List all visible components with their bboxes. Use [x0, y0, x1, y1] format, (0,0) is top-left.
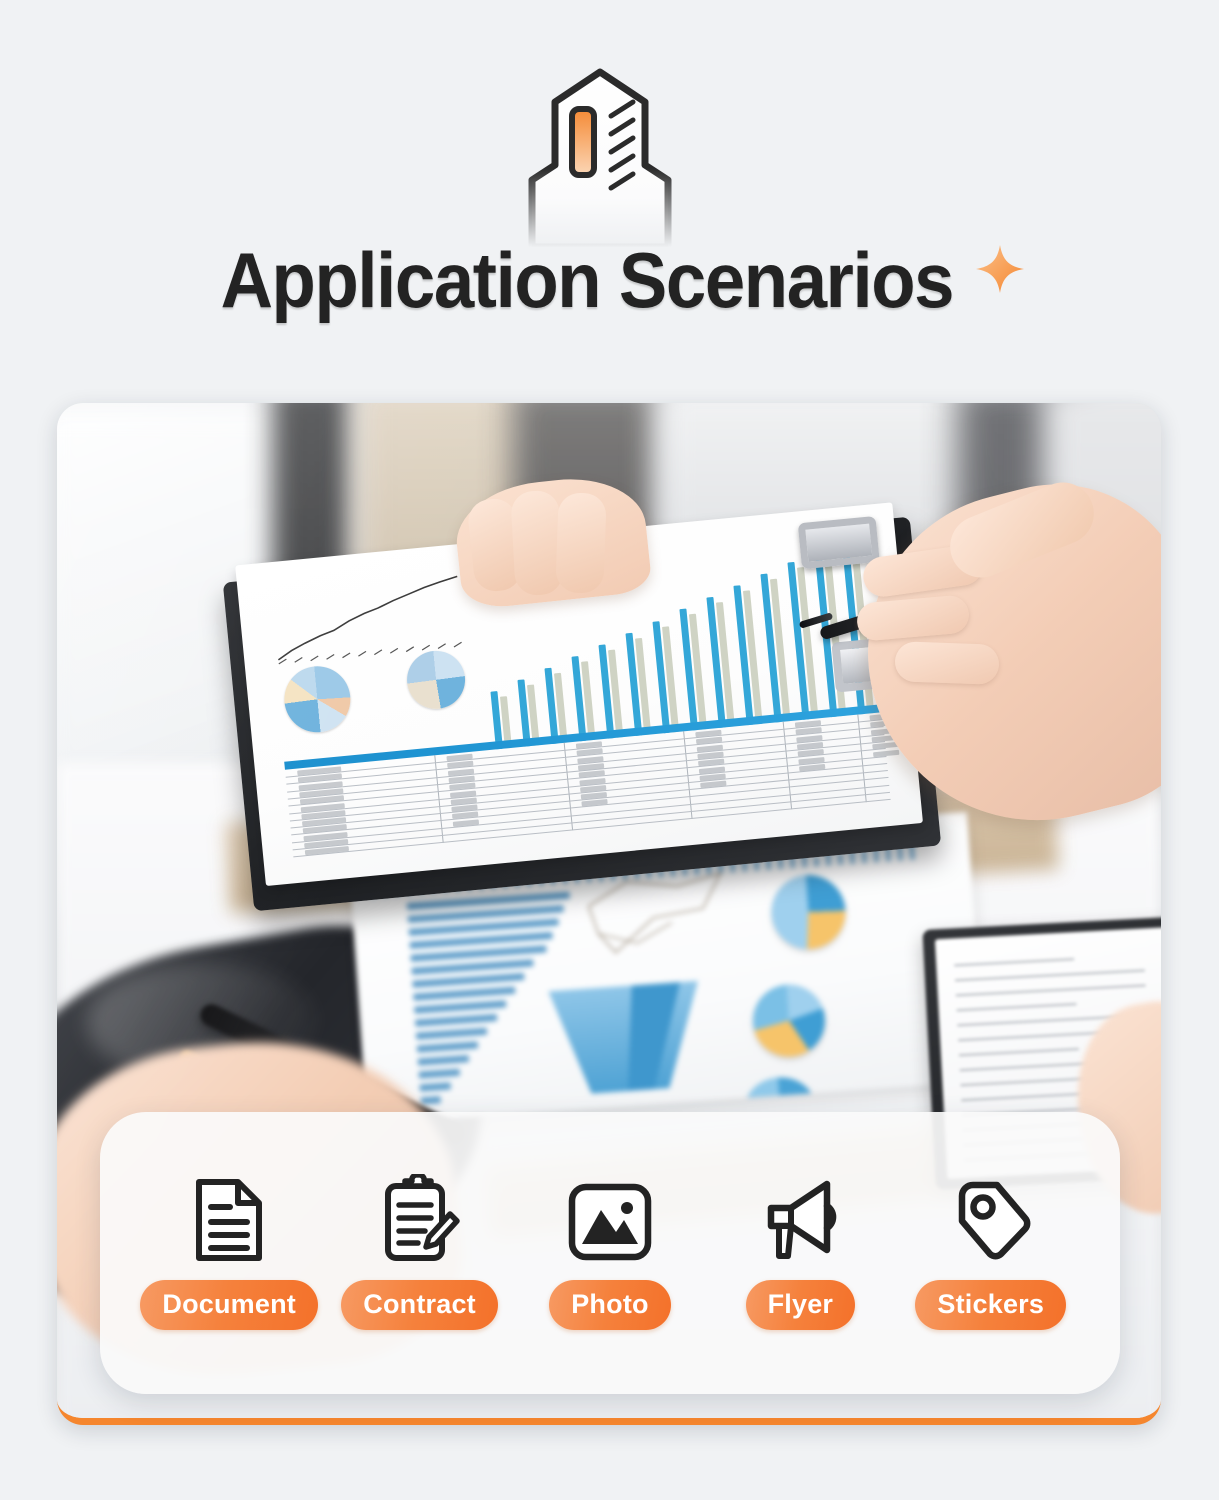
category-item-stickers[interactable]: Stickers — [900, 1176, 1082, 1330]
bar — [420, 1096, 441, 1104]
ruled-line — [957, 1003, 1077, 1011]
table-cell — [699, 773, 725, 780]
table-cell — [700, 781, 726, 788]
bar — [418, 1055, 469, 1066]
bar — [417, 1041, 479, 1052]
table-cell — [798, 749, 824, 756]
bar — [411, 959, 534, 975]
bar — [414, 1000, 506, 1013]
table-cell — [577, 749, 603, 756]
clipboard-pie-2 — [404, 648, 467, 711]
title-row: Application Scenarios — [0, 237, 1219, 323]
table-cell — [581, 792, 607, 799]
table-cell — [873, 749, 899, 756]
category-item-photo[interactable]: Photo — [519, 1176, 701, 1330]
category-item-flyer[interactable]: Flyer — [709, 1176, 891, 1330]
table-cell — [450, 790, 476, 797]
price-tag-icon — [949, 1176, 1033, 1262]
table-cell — [796, 735, 822, 742]
category-label-flyer: Flyer — [746, 1280, 856, 1330]
tick-bar — [814, 857, 820, 866]
table-cell — [697, 752, 723, 759]
contract-clipboard-pencil-icon — [380, 1176, 460, 1262]
ruled-line — [959, 1048, 1079, 1056]
category-card: Document Contract — [100, 1112, 1120, 1394]
table-cell — [696, 737, 722, 744]
table-cell — [448, 768, 474, 775]
table-cell — [581, 799, 607, 806]
bar — [420, 1082, 451, 1091]
photo-image-icon — [567, 1176, 653, 1262]
clipboard-line-chart — [268, 570, 485, 668]
building-icon — [493, 62, 708, 247]
table-cell — [699, 766, 725, 773]
category-label-photo: Photo — [549, 1280, 670, 1330]
table-cell — [577, 756, 603, 763]
ruled-line — [955, 969, 1145, 981]
document-icon — [192, 1176, 266, 1262]
page-header: Application Scenarios — [0, 0, 1219, 392]
bar — [416, 1028, 488, 1040]
ruled-line — [954, 958, 1074, 966]
sparkle-icon — [974, 243, 1026, 295]
bar — [413, 987, 515, 1001]
table-cell — [579, 778, 605, 785]
table-cell — [580, 785, 606, 792]
clipboard-clip-top — [798, 516, 880, 569]
table-cell — [576, 741, 602, 748]
table-cell — [797, 742, 823, 749]
page-title: Application Scenarios — [220, 237, 953, 323]
ruled-line — [956, 984, 1146, 996]
table-cell — [449, 783, 475, 790]
bar — [419, 1069, 460, 1079]
hand-finger — [894, 641, 999, 685]
table-cell — [796, 727, 822, 734]
table-cell — [578, 763, 604, 770]
table-cell — [447, 761, 473, 768]
table-cell — [798, 756, 824, 763]
table-cell — [799, 764, 825, 771]
clipboard-pie-1 — [281, 663, 353, 735]
ruled-line — [961, 1093, 1081, 1101]
table-cell — [449, 775, 475, 782]
table-cell — [695, 730, 721, 737]
table-cell — [453, 819, 479, 826]
bar — [412, 973, 524, 988]
category-item-document[interactable]: Document — [138, 1176, 320, 1330]
table-cell — [446, 754, 472, 761]
table-cell — [452, 812, 478, 819]
report-pie-1 — [769, 873, 848, 952]
table-cell — [451, 805, 477, 812]
table-cell — [698, 759, 724, 766]
report-funnel-chart — [548, 981, 705, 1096]
category-label-stickers: Stickers — [915, 1280, 1066, 1330]
report-scatter-chart — [580, 866, 736, 971]
report-pie-2 — [751, 982, 828, 1059]
table-cell — [697, 744, 723, 751]
table-cell — [579, 770, 605, 777]
category-item-contract[interactable]: Contract — [329, 1176, 511, 1330]
tick-bar — [837, 853, 843, 864]
hand-finger — [555, 492, 606, 594]
category-label-contract: Contract — [341, 1280, 498, 1330]
hand-finger — [510, 490, 563, 596]
megaphone-icon — [757, 1176, 843, 1262]
table-cell — [795, 720, 821, 727]
category-label-document: Document — [140, 1280, 318, 1330]
table-cell — [451, 797, 477, 804]
bar — [415, 1014, 497, 1027]
